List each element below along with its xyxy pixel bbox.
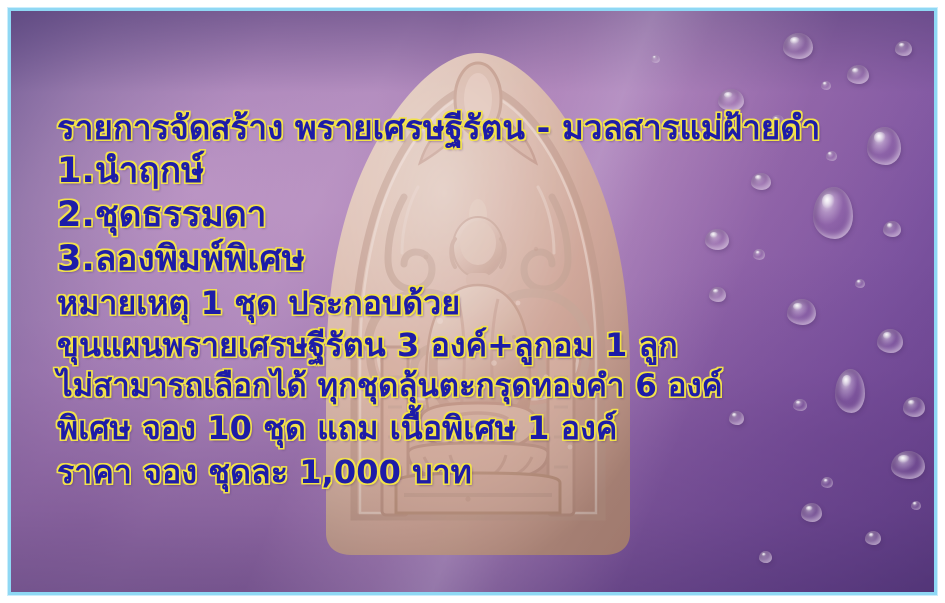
list-item-2: 2.ชุดธรรมดา bbox=[57, 198, 917, 233]
water-droplet bbox=[759, 551, 772, 563]
water-droplet bbox=[911, 501, 921, 510]
water-droplet bbox=[821, 81, 831, 90]
list-item-3: 3.ลองพิมพ์พิเศษ bbox=[57, 242, 917, 277]
water-droplet bbox=[801, 503, 822, 522]
water-droplet bbox=[783, 33, 813, 59]
water-droplet bbox=[651, 55, 660, 63]
note-line-2: ไม่สามารถเลือกได้ ทุกชุดลุ้นตะกรุดทองคำ … bbox=[57, 371, 917, 402]
note-line-1: ขุนแผนพรายเศรษฐีรัตน 3 องค์+ลูกอม 1 ลูก bbox=[57, 329, 917, 361]
note-header: หมายเหตุ 1 ชุด ประกอบด้วย bbox=[57, 287, 917, 319]
poster-frame: รายการจัดสร้าง พรายเศรษฐีรัตน - มวลสารแม… bbox=[8, 8, 937, 595]
poster-canvas: รายการจัดสร้าง พรายเศรษฐีรัตน - มวลสารแม… bbox=[0, 0, 945, 603]
water-droplet bbox=[865, 531, 881, 545]
poster-text-block: รายการจัดสร้าง พรายเศรษฐีรัตน - มวลสารแม… bbox=[57, 111, 917, 488]
water-droplet bbox=[895, 41, 912, 56]
list-item-1: 1.นำฤกษ์ bbox=[57, 154, 917, 189]
price-line: ราคา จอง ชุดละ 1,000 บาท bbox=[57, 456, 917, 488]
water-droplet bbox=[847, 65, 869, 84]
promotion-line: พิเศษ จอง 10 ชุด แถม เนื้อพิเศษ 1 องค์ bbox=[57, 412, 917, 444]
poster-title: รายการจัดสร้าง พรายเศรษฐีรัตน - มวลสารแม… bbox=[57, 111, 917, 144]
